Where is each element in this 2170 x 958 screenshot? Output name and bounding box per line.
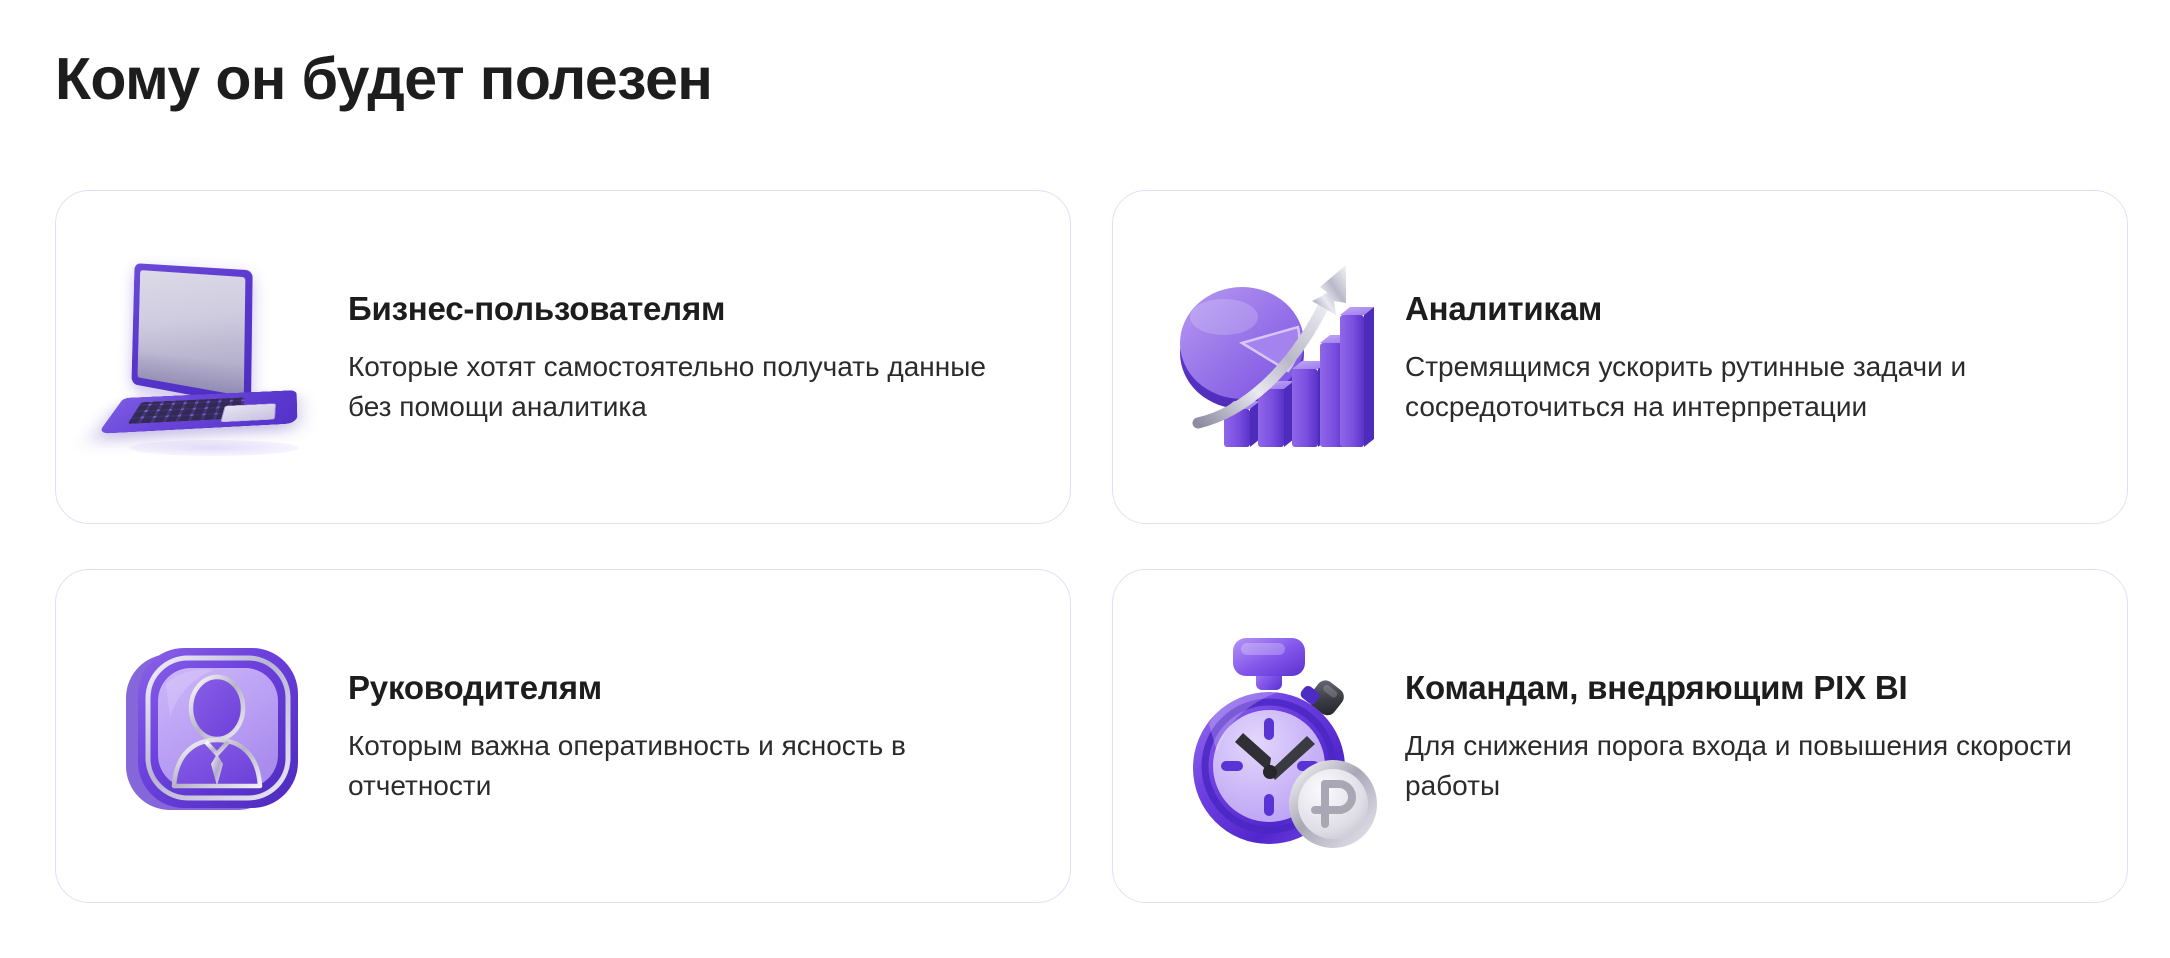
card-text-block: Руководителям Которым важна оперативност… (348, 666, 1030, 805)
card-title: Руководителям (348, 668, 1030, 708)
card-text-block: Бизнес-пользователям Которые хотят самос… (348, 287, 1030, 426)
page-root: Кому он будет полезен Бизнес-пользовател… (0, 0, 2170, 958)
card-text-block: Командам, внедряющим PIX BI Для снижения… (1405, 666, 2087, 805)
card-description: Для снижения порога входа и повышения ск… (1405, 726, 2085, 806)
audience-card-pixbi-teams[interactable]: Командам, внедряющим PIX BI Для снижения… (1112, 569, 2128, 903)
audience-card-analysts[interactable]: Аналитикам Стремящимся ускорить рутинные… (1112, 190, 2128, 524)
audience-card-business-users[interactable]: Бизнес-пользователям Которые хотят самос… (55, 190, 1071, 524)
audience-card-grid: Бизнес-пользователям Которые хотят самос… (55, 190, 2128, 903)
page-title: Кому он будет полезен (55, 46, 712, 112)
card-description: Которые хотят самостоятельно получать да… (348, 347, 1028, 427)
laptop-icon (108, 249, 324, 465)
audience-card-managers[interactable]: Руководителям Которым важна оперативност… (55, 569, 1071, 903)
card-description: Которым важна оперативность и ясность в … (348, 726, 1028, 806)
business-person-icon (108, 628, 324, 844)
card-title: Аналитикам (1405, 289, 2087, 329)
card-description: Стремящимся ускорить рутинные задачи и с… (1405, 347, 2085, 427)
card-title: Командам, внедряющим PIX BI (1405, 668, 2087, 708)
growth-chart-icon (1165, 249, 1381, 465)
card-title: Бизнес-пользователям (348, 289, 1030, 329)
stopwatch-coin-icon (1165, 628, 1381, 844)
card-text-block: Аналитикам Стремящимся ускорить рутинные… (1405, 287, 2087, 426)
